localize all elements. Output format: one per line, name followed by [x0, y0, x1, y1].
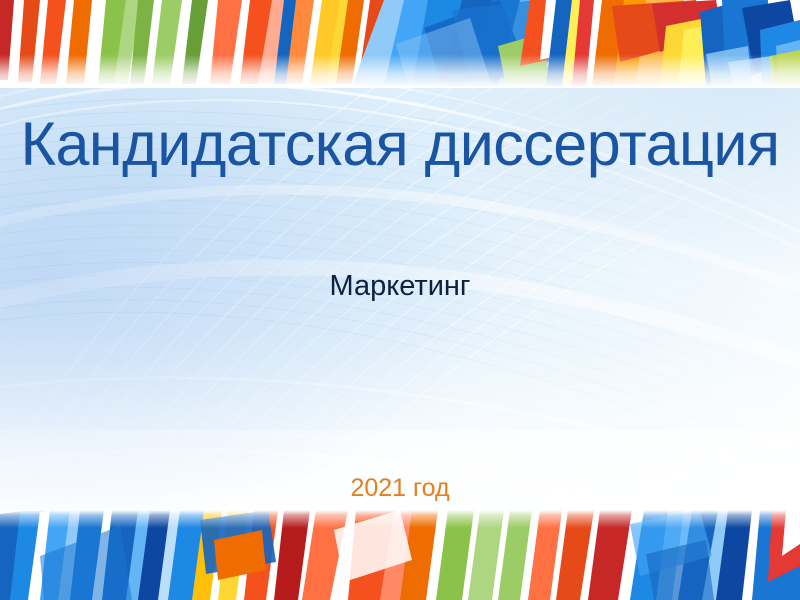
bottom-decorative-border [0, 510, 800, 600]
slide-subtitle: Маркетинг [0, 270, 800, 303]
presentation-title-slide: Кандидатская диссертация Маркетинг 2021 … [0, 0, 800, 600]
top-decorative-border [0, 0, 800, 88]
slide-year: 2021 год [0, 474, 800, 503]
page-title: Кандидатская диссертация [0, 112, 800, 176]
